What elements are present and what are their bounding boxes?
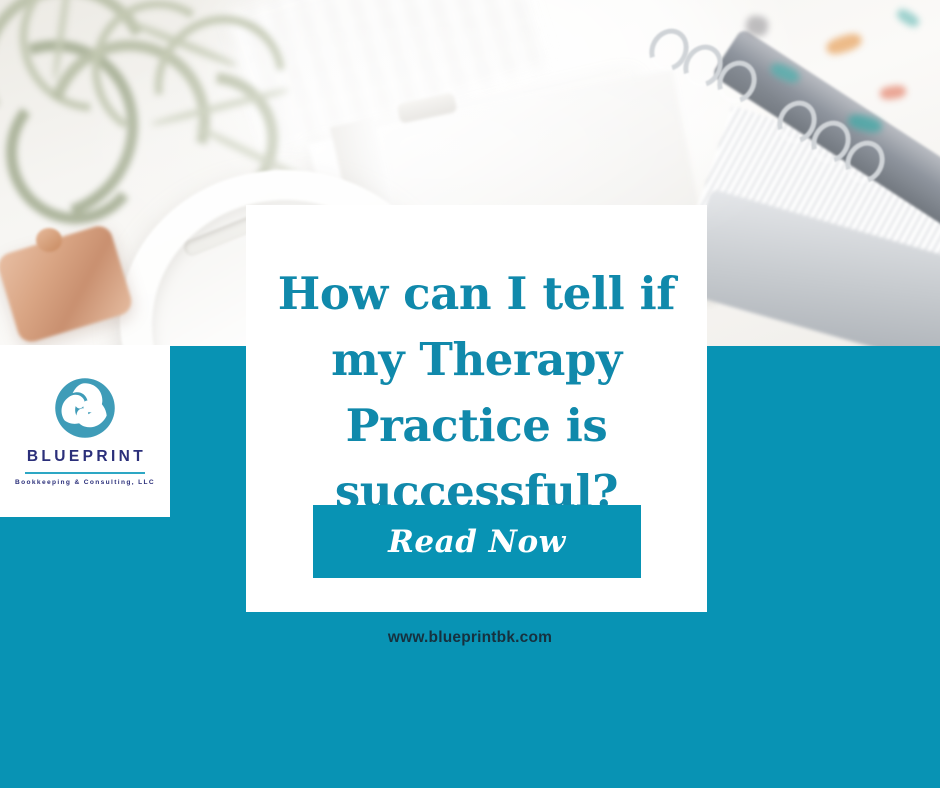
read-now-button[interactable]: Read Now [313, 505, 641, 578]
blueprint-triskelion-logo-icon [54, 377, 116, 439]
logo-tagline: Bookkeeping & Consulting, LLC [15, 479, 155, 486]
brand-logo-card[interactable]: BLUEPRINT Bookkeeping & Consulting, LLC [0, 345, 170, 517]
promo-graphic-canvas: BLUEPRINT Bookkeeping & Consulting, LLC … [0, 0, 940, 788]
read-now-button-label: Read Now [388, 524, 566, 560]
website-url[interactable]: www.blueprintbk.com [0, 629, 940, 647]
logo-wordmark: BLUEPRINT [27, 448, 146, 466]
logo-divider [25, 472, 145, 474]
page-title: How can I tell if my Therapy Practice is… [254, 261, 699, 525]
content-card: How can I tell if my Therapy Practice is… [246, 205, 707, 612]
